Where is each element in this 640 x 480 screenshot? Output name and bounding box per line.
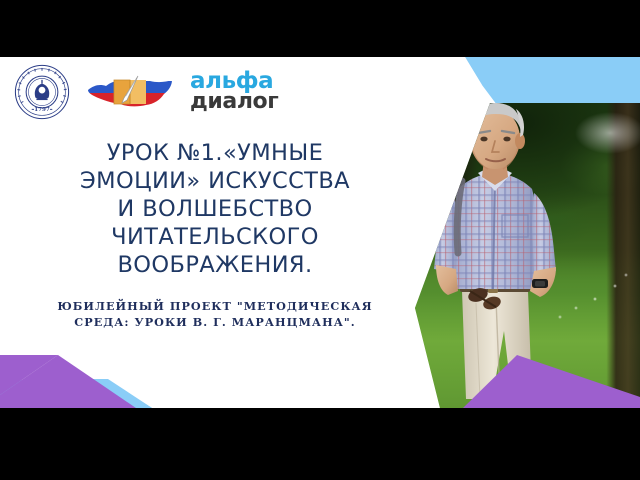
slide-text-block: УРОК №1.«УМНЫЕ ЭМОЦИИ» ИСКУССТВА И ВОЛШЕ…: [10, 140, 420, 330]
russia-map-open-book-icon: [84, 70, 176, 114]
slide-stage: 1797: [0, 0, 640, 480]
herzen-university-seal-icon: 1797: [14, 64, 70, 120]
letterbox-bar-bottom: [0, 408, 640, 480]
herzen-seal-year: 1797: [34, 107, 50, 113]
logo-row: 1797: [14, 63, 294, 121]
slide-subtitle: ЮБИЛЕЙНЫЙ ПРОЕКТ "МЕТОДИЧЕСКАЯ СРЕДА: УР…: [10, 299, 420, 329]
slide-canvas: 1797: [0, 57, 640, 408]
alpha-dialog-line2: диалог: [190, 92, 278, 112]
letterbox-bar-top: [0, 0, 640, 57]
slide-title: УРОК №1.«УМНЫЕ ЭМОЦИИ» ИСКУССТВА И ВОЛШЕ…: [10, 140, 420, 279]
alpha-dialog-wordmark: альфа диалог: [190, 71, 278, 112]
